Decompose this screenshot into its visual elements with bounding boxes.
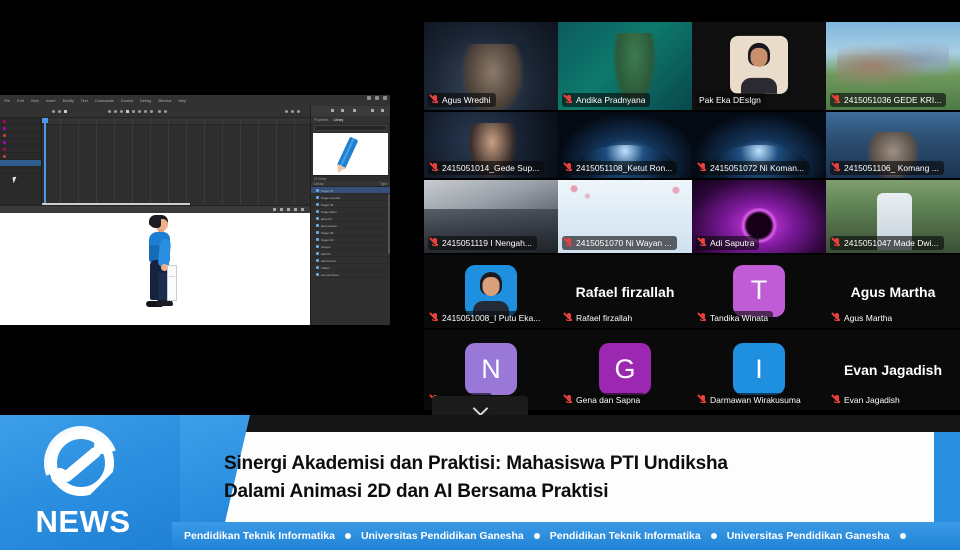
maximize-icon[interactable] — [375, 96, 379, 100]
menu-item[interactable]: Edit — [17, 99, 24, 103]
menu-item[interactable]: Text — [81, 99, 88, 103]
participant-name-badge: 2415051008_I Putu Eka... — [428, 311, 545, 325]
ticker-separator-dot — [345, 533, 351, 539]
headline-line-1: Sinergi Akademisi dan Praktisi: Mahasisw… — [224, 450, 924, 478]
participant-name-badge: 2415051036 GEDE KRI... — [830, 93, 946, 107]
menu-item[interactable]: View — [31, 99, 39, 103]
layer-color-dot — [3, 155, 6, 158]
frame-ticks — [42, 118, 310, 207]
library-preview-thumbnail — [313, 133, 388, 175]
news-wordmark: NEWS — [30, 504, 136, 540]
headline: Sinergi Akademisi dan Praktisi: Mahasisw… — [224, 450, 924, 506]
participant-name: Andika Pradnyana — [576, 94, 645, 106]
onion-skin-tools[interactable] — [52, 110, 67, 113]
globe-swoosh-icon — [44, 426, 118, 500]
mic-muted-icon — [565, 163, 573, 173]
ticker-item: Universitas Pendidikan Ganesha — [727, 530, 890, 542]
avatar: G — [599, 343, 651, 395]
participant-name-badge: 2415051072 Ni Koman... — [696, 161, 809, 175]
layer-row-selected[interactable] — [0, 160, 41, 167]
tab-properties[interactable]: Properties — [314, 118, 329, 122]
participant-name-badge: Tandika Winata — [696, 311, 773, 325]
stage-tools[interactable] — [273, 208, 304, 211]
stage-toolbar[interactable] — [0, 205, 310, 213]
participant-name-badge: Rafael firzallah — [562, 311, 637, 325]
participant-name: Darmawan Wirakusuma — [710, 394, 801, 406]
news-lower-third: NEWS Sinergi Akademisi dan Praktisi: Mah… — [0, 415, 960, 550]
mic-muted-icon — [565, 313, 573, 323]
menu-item[interactable]: Window — [158, 99, 171, 103]
symbol-icon — [316, 189, 319, 192]
symbol-icon — [316, 196, 319, 199]
mic-muted-icon — [431, 163, 439, 173]
layer-row[interactable] — [0, 153, 41, 160]
participant-name-badge: Andika Pradnyana — [562, 93, 650, 107]
dock-header[interactable] — [311, 106, 390, 116]
participant-name-badge: Gena dan Sapna — [562, 393, 645, 407]
frame-tools[interactable] — [108, 110, 153, 113]
library-items-list[interactable]: Kaget 01 Kaget nunduk Kaget 02 Kaget jal… — [311, 187, 390, 278]
menu-item[interactable]: Control — [121, 99, 133, 103]
symbol-icon — [316, 210, 319, 213]
participant-name-badge: 2415051070 Ni Wayan ... — [562, 236, 677, 250]
participant-name: Gena dan Sapna — [576, 394, 640, 406]
participant-tile[interactable]: Agus MarthaAgus Martha — [826, 255, 960, 328]
layer-row[interactable] — [0, 146, 41, 153]
participant-tile[interactable]: IDarmawan Wirakusuma — [692, 330, 826, 410]
symbol-icon — [316, 203, 319, 206]
tab-library[interactable]: Library — [334, 118, 344, 122]
participant-name: Adi Saputra — [710, 237, 754, 249]
participant-name: Pak Eka DEsIgn — [699, 94, 761, 106]
library-name-column: Library — [314, 182, 324, 186]
chevron-down-icon[interactable] — [473, 400, 487, 414]
timeline-frames-grid[interactable] — [42, 118, 310, 207]
panel-tabs[interactable]: Properties Library — [311, 116, 390, 123]
minimize-icon[interactable] — [367, 96, 371, 100]
ticker-bar: Pendidikan Teknik InformatikaUniversitas… — [172, 522, 960, 550]
participant-grid-row: 2415051014_Gede Sup...2415051108_Ketut R… — [424, 112, 960, 178]
participant-tile[interactable]: 2415051070 Ni Wayan ... — [558, 180, 692, 253]
participant-tile[interactable]: Andika Pradnyana — [558, 22, 692, 110]
participant-name-badge: Darmawan Wirakusuma — [696, 393, 806, 407]
library-item[interactable]: jalan 01 — [311, 215, 390, 222]
playback-tools[interactable] — [158, 110, 167, 113]
library-item[interactable]: Kaget 02 — [311, 201, 390, 208]
mic-muted-icon — [833, 395, 841, 405]
avatar: I — [733, 343, 785, 395]
participant-name: Rafael firzallah — [576, 312, 632, 324]
library-item[interactable]: Kaget 03 — [311, 229, 390, 236]
participant-name-badge: 2415051014_Gede Sup... — [428, 161, 544, 175]
library-item[interactable]: Kaget nunduk — [311, 194, 390, 201]
participant-name: 2415051108_Ketut Ron... — [576, 162, 672, 174]
participant-tile[interactable]: Pak Eka DEsIgn — [692, 22, 826, 110]
character-artwork — [140, 215, 182, 313]
participant-grid-row: Agus WredhiAndika PradnyanaPak Eka DEsIg… — [424, 22, 960, 110]
layers-panel[interactable] — [0, 118, 42, 207]
layer-row[interactable] — [0, 125, 41, 132]
mic-muted-icon — [431, 313, 439, 323]
right-dock-panel: Properties Library 21 items Library Type… — [310, 106, 390, 325]
avatar: T — [733, 264, 785, 316]
library-item[interactable]: Kaget kiri — [311, 236, 390, 243]
selection-bounding-box — [167, 265, 177, 301]
folder-icon — [316, 273, 319, 276]
library-item[interactable]: Kaget jalan — [311, 208, 390, 215]
pencil-artwork-icon — [337, 137, 359, 170]
lower-third-accent-bar — [934, 432, 960, 522]
mic-muted-icon — [833, 95, 841, 105]
mic-muted-icon — [431, 238, 439, 248]
library-item[interactable]: semua frame — [311, 271, 390, 278]
participant-name-badge: Agus Wredhi — [428, 93, 496, 107]
headline-line-2: Dalami Animasi 2D dan AI Bersama Praktis… — [224, 478, 924, 506]
participant-name: 2415051014_Gede Sup... — [442, 162, 539, 174]
library-item[interactable]: badan — [311, 264, 390, 271]
participant-tile[interactable]: Rafael firzallahRafael firzallah — [558, 255, 692, 328]
library-item[interactable]: jalan kanan — [311, 222, 390, 229]
app-menu-bar[interactable]: File Edit View Insert Modify Text Comman… — [0, 95, 390, 106]
symbol-icon — [316, 252, 319, 255]
participant-tile[interactable]: 2415051106_ Komang ... — [826, 112, 960, 178]
screen-recording-frame: File Edit View Insert Modify Text Comman… — [0, 0, 960, 550]
participant-grid-row: 2415051119 I Nengah...2415051070 Ni Waya… — [424, 180, 960, 253]
ticker-separator-dot — [534, 533, 540, 539]
mic-muted-icon — [565, 95, 573, 105]
participant-name: Agus Wredhi — [442, 94, 491, 106]
participant-tile[interactable]: Evan JagadishEvan Jagadish — [826, 330, 960, 410]
participant-name: 2415051072 Ni Koman... — [710, 162, 804, 174]
symbol-icon — [316, 224, 319, 227]
participant-tile[interactable]: 2415051047 Made Dwi... — [826, 180, 960, 253]
participant-tile[interactable]: 2415051008_I Putu Eka... — [424, 255, 558, 328]
menu-item[interactable]: Debug — [140, 99, 151, 103]
participant-name: 2415051106_ Komang ... — [844, 162, 939, 174]
participant-name: 2415051047 Made Dwi... — [844, 237, 939, 249]
timeline-options[interactable] — [285, 110, 300, 113]
participant-tile[interactable]: 2415051072 Ni Koman... — [692, 112, 826, 178]
library-item[interactable]: Kaget 01 — [311, 187, 390, 194]
timeline-toolbar[interactable] — [0, 106, 310, 118]
menu-item[interactable]: Commands — [95, 99, 114, 103]
mic-muted-icon — [833, 238, 841, 248]
mic-muted-icon — [833, 163, 841, 173]
layer-row[interactable] — [0, 118, 41, 125]
participant-grid-row: 2415051008_I Putu Eka...Rafael firzallah… — [424, 255, 960, 328]
participant-name: 2415051119 I Nengah... — [442, 237, 532, 249]
symbol-icon — [316, 259, 319, 262]
participant-name-badge: 2415051108_Ketut Ron... — [562, 161, 677, 175]
mic-muted-icon — [565, 238, 573, 248]
participant-tile[interactable]: GGena dan Sapna — [558, 330, 692, 410]
mouse-cursor-icon — [12, 177, 17, 184]
layer-row[interactable] — [0, 132, 41, 139]
layer-color-dot — [3, 134, 6, 137]
participant-name: Evan Jagadish — [844, 394, 900, 406]
participant-name-badge: 2415051119 I Nengah... — [428, 236, 537, 250]
participant-tile[interactable]: TTandika Winata — [692, 255, 826, 328]
participant-webcam-portrait — [730, 36, 788, 94]
symbol-icon — [316, 245, 319, 248]
layer-color-dot — [3, 141, 6, 144]
ticker-separator-dot — [711, 533, 717, 539]
participant-tile[interactable]: 2415051036 GEDE KRI... — [826, 22, 960, 110]
participant-name-badge: Agus Martha — [830, 311, 897, 325]
participant-tile[interactable]: Adi Saputra — [692, 180, 826, 253]
symbol-icon — [316, 238, 319, 241]
participant-name-badge: 2415051047 Made Dwi... — [830, 236, 944, 250]
ticker-item: Pendidikan Teknik Informatika — [184, 530, 335, 542]
library-item[interactable]: kaki kanan — [311, 257, 390, 264]
mic-muted-icon — [833, 313, 841, 323]
mic-muted-icon — [699, 395, 707, 405]
window-controls[interactable] — [367, 96, 387, 100]
layer-row[interactable] — [0, 167, 41, 174]
layer-color-dot — [3, 120, 6, 123]
library-item[interactable]: tangan — [311, 243, 390, 250]
shared-screen-animation-software: File Edit View Insert Modify Text Comman… — [0, 95, 390, 325]
participant-name-badge: Evan Jagadish — [830, 393, 905, 407]
menu-item[interactable]: Modify — [63, 99, 74, 103]
symbol-icon — [316, 217, 319, 220]
menu-item[interactable]: Help — [178, 99, 186, 103]
mic-muted-icon — [699, 313, 707, 323]
layer-color-dot — [3, 127, 6, 130]
mic-muted-icon — [565, 395, 573, 405]
symbol-icon — [316, 266, 319, 269]
participant-name-badge: Adi Saputra — [696, 236, 759, 250]
menu-item[interactable]: File — [4, 99, 10, 103]
timeline-and-stage: Scene 1 — [0, 106, 310, 325]
panel-scrollbar[interactable] — [388, 194, 390, 254]
mic-muted-icon — [699, 163, 707, 173]
symbol-icon — [316, 231, 319, 234]
animation-stage-canvas[interactable] — [0, 213, 310, 325]
participant-tile[interactable]: 2415051108_Ketut Ron... — [558, 112, 692, 178]
participant-name: 2415051008_I Putu Eka... — [442, 312, 540, 324]
close-icon[interactable] — [383, 96, 387, 100]
library-item[interactable]: kaki 01 — [311, 250, 390, 257]
participant-name-badge: Pak Eka DEsIgn — [696, 93, 766, 107]
library-type-column: Type — [380, 182, 387, 186]
participant-name: Agus Martha — [844, 312, 892, 324]
participant-tile[interactable]: 2415051014_Gede Sup... — [424, 112, 558, 178]
participant-tile[interactable]: 2415051119 I Nengah... — [424, 180, 558, 253]
ticker-item: Pendidikan Teknik Informatika — [550, 530, 701, 542]
timeline-playhead[interactable] — [44, 118, 46, 207]
participant-name-badge: 2415051106_ Komang ... — [830, 161, 944, 175]
participant-tile[interactable]: Agus Wredhi — [424, 22, 558, 110]
ticker-item: Universitas Pendidikan Ganesha — [361, 530, 524, 542]
panel-dropdown[interactable] — [314, 125, 387, 131]
layer-row[interactable] — [0, 139, 41, 146]
layer-color-dot — [3, 148, 6, 151]
participant-name: 2415051070 Ni Wayan ... — [576, 237, 672, 249]
participant-name: Tandika Winata — [710, 312, 768, 324]
ticker-separator-dot — [900, 533, 906, 539]
mic-muted-icon — [431, 95, 439, 105]
avatar — [465, 264, 517, 316]
avatar: N — [465, 343, 517, 395]
menu-item[interactable]: Insert — [46, 99, 56, 103]
participant-name: 2415051036 GEDE KRI... — [844, 94, 941, 106]
mic-muted-icon — [699, 238, 707, 248]
participant-grid: Agus WredhiAndika PradnyanaPak Eka DEsIg… — [424, 22, 960, 412]
ticker-items: Pendidikan Teknik InformatikaUniversitas… — [172, 530, 906, 542]
news-logo: NEWS — [30, 424, 136, 542]
